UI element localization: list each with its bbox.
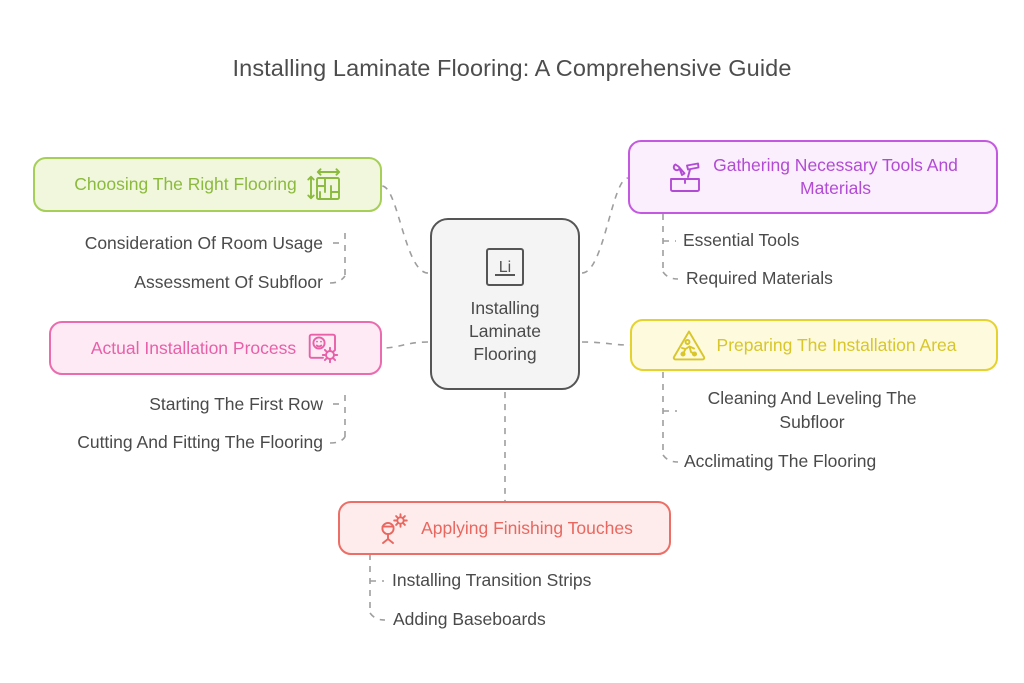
edge-finishing-child-1 <box>370 613 385 620</box>
settings-panel-icon <box>306 331 340 365</box>
page-title: Installing Laminate Flooring: A Comprehe… <box>0 55 1024 82</box>
branch-actual-installation-process[interactable]: Actual Installation Process <box>49 321 382 375</box>
branch-preparing-the-installation-area[interactable]: Preparing The Installation Area <box>630 319 998 371</box>
sub-item-adding-baseboards: Adding Baseboards <box>393 608 693 632</box>
branch-label: Gathering Necessary Tools And Materials <box>713 154 958 200</box>
svg-text:Li: Li <box>499 259 511 276</box>
branch-label: Actual Installation Process <box>91 337 296 360</box>
branch-label: Choosing The Right Flooring <box>74 173 296 196</box>
branch-applying-finishing-touches[interactable]: Applying Finishing Touches <box>338 501 671 555</box>
sub-item-essential-tools: Essential Tools <box>683 229 983 253</box>
branch-label: Preparing The Installation Area <box>717 334 957 357</box>
edge-gathering-child-1 <box>663 272 678 279</box>
branch-label: Applying Finishing Touches <box>421 517 633 540</box>
sub-item-cutting-and-fitting-the-flooring: Cutting And Fitting The Flooring <box>13 431 323 455</box>
mindmap-canvas: Installing Laminate Flooring: A Comprehe… <box>0 0 1024 683</box>
center-node[interactable]: Li Installing Laminate Flooring <box>430 218 580 390</box>
sub-item-acclimating-the-flooring: Acclimating The Flooring <box>684 450 984 474</box>
edge-center-to-installation <box>382 342 428 348</box>
sub-item-assessment-of-subfloor: Assessment Of Subfloor <box>13 271 323 295</box>
construction-warning-icon <box>672 328 706 362</box>
center-node-label: Installing Laminate Flooring <box>469 297 541 366</box>
sub-item-installing-transition-strips: Installing Transition Strips <box>392 569 692 593</box>
branch-gathering-necessary-tools-and-materials[interactable]: Gathering Necessary Tools And Materials <box>628 140 998 214</box>
edge-center-to-choosing <box>382 186 428 273</box>
sub-item-consideration-of-room-usage: Consideration Of Room Usage <box>13 232 323 256</box>
edge-center-to-preparing <box>582 342 630 345</box>
branch-choosing-the-right-flooring[interactable]: Choosing The Right Flooring <box>33 157 382 212</box>
toolbox-icon <box>668 160 702 194</box>
sub-item-starting-the-first-row: Starting The First Row <box>13 393 323 417</box>
edge-preparing-child-1 <box>663 455 678 462</box>
edge-choosing-child-1 <box>330 276 345 283</box>
sub-item-cleaning-and-leveling-the-subfloor: Cleaning And Leveling The Subfloor <box>684 387 940 434</box>
edge-center-to-gathering <box>582 178 628 273</box>
sub-item-required-materials: Required Materials <box>686 267 986 291</box>
worker-gear-icon <box>376 511 410 545</box>
edge-installation-child-1 <box>330 437 345 443</box>
li-square-icon: Li <box>481 243 529 291</box>
room-measurement-icon <box>307 168 341 202</box>
